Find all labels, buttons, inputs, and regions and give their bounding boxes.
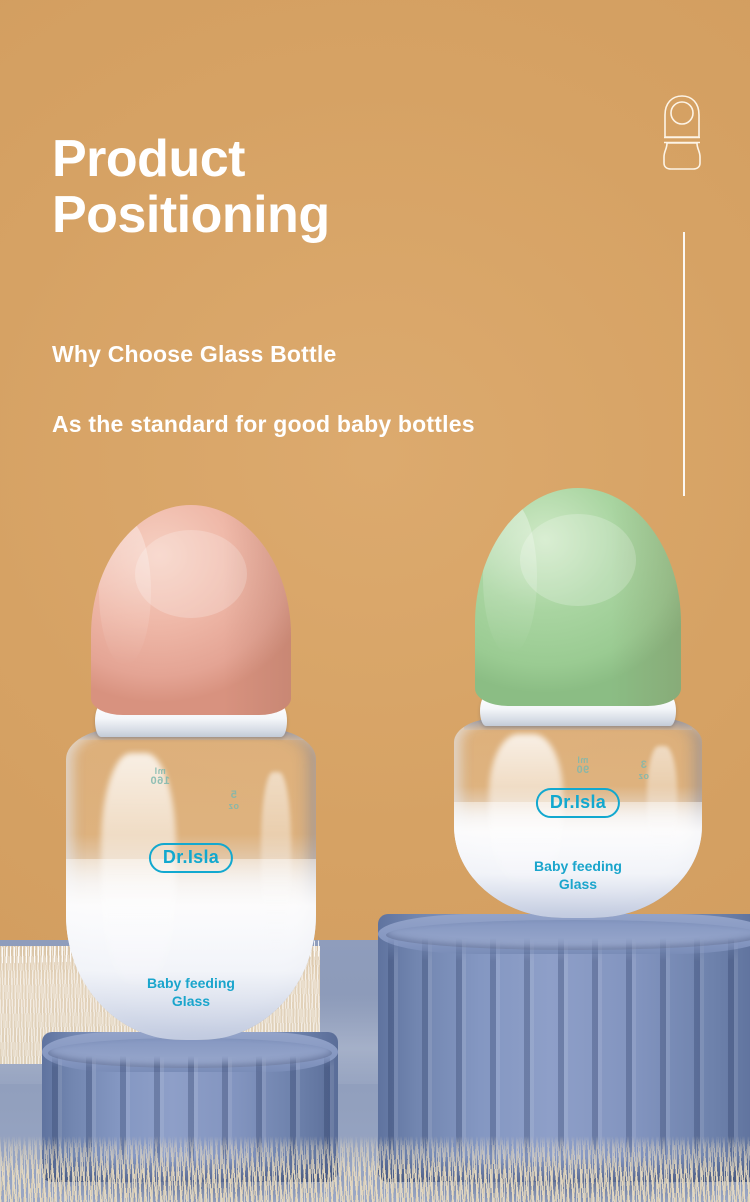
pink-bottle-graduation-ml: ml 160 xyxy=(150,767,170,788)
green-grad-oz-unit: oz xyxy=(638,772,649,781)
subheading-line-2: As the standard for good baby bottles xyxy=(52,411,475,437)
grass-fringe xyxy=(0,1136,750,1202)
baby-bottle-outline-icon xyxy=(651,93,713,171)
pink-bottle-graduation-oz: 5 oz xyxy=(228,790,239,811)
pedestal-right-flutes xyxy=(378,938,750,1168)
pink-bottle-cap xyxy=(91,505,291,715)
green-bottle-cap xyxy=(475,488,681,706)
subheading-line-1: Why Choose Glass Bottle xyxy=(52,341,336,367)
page-title: Product Positioning xyxy=(52,132,330,243)
green-bottle-tagline: Baby feeding Glass xyxy=(534,858,622,893)
pink-grad-ml-value: 160 xyxy=(150,775,170,787)
vertical-divider xyxy=(683,232,685,496)
pink-grad-oz-value: 5 xyxy=(230,789,237,801)
product-pink-bottle[interactable]: ml 160 5 oz Dr.Isla Baby feeding Glass xyxy=(58,505,324,1045)
green-bottle-graduation-oz: 3 oz xyxy=(638,760,649,781)
green-bottle-graduation-ml: ml 90 xyxy=(576,756,589,777)
product-green-bottle[interactable]: ml 90 3 oz Dr.Isla Baby feeding Glass xyxy=(442,488,714,938)
pink-grad-oz-unit: oz xyxy=(228,802,239,811)
pink-bottle-tagline: Baby feeding Glass xyxy=(147,975,235,1010)
green-grad-oz-value: 3 xyxy=(640,759,647,771)
pink-cap-shading xyxy=(223,505,291,715)
green-bottle-highlight-right xyxy=(647,746,677,862)
green-cap-shading xyxy=(611,488,681,706)
pink-bottle-brand-logo: Dr.Isla xyxy=(149,843,233,873)
subheading: Why Choose Glass Bottle As the standard … xyxy=(52,302,475,442)
product-positioning-poster: Product Positioning Why Choose Glass Bot… xyxy=(0,0,750,1202)
pink-bottle-highlight-right xyxy=(261,772,291,953)
green-grad-ml-value: 90 xyxy=(576,764,589,776)
green-bottle-brand-logo: Dr.Isla xyxy=(536,788,620,818)
